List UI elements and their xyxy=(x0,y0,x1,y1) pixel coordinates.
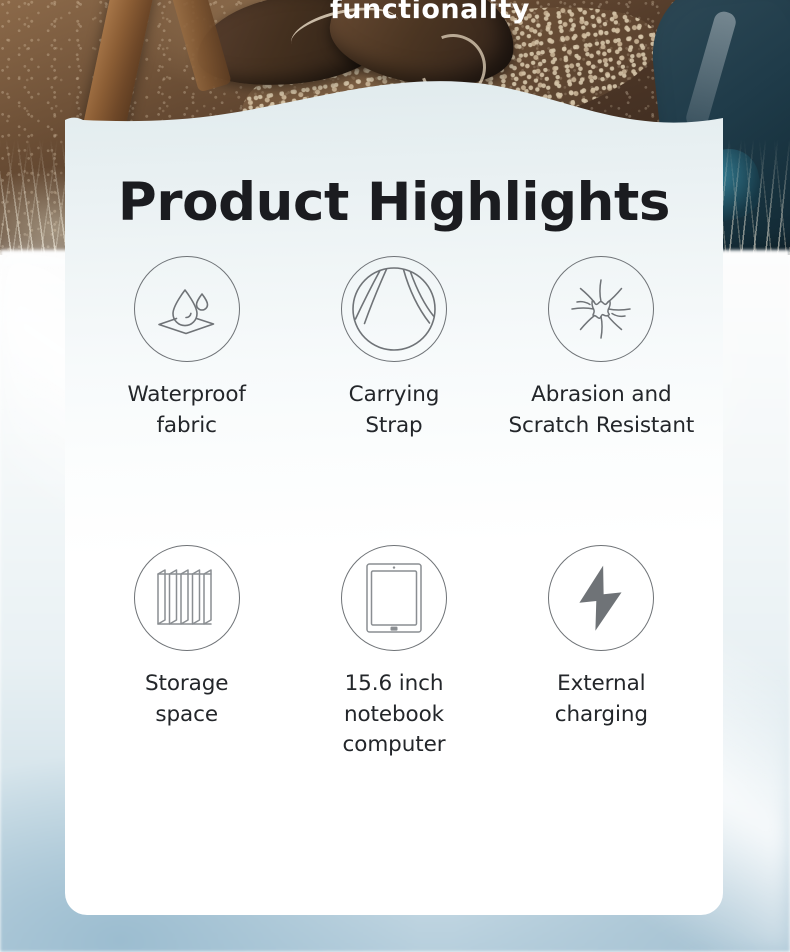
carrying-strap-icon xyxy=(341,256,447,362)
feature-label: Waterproof fabric xyxy=(127,380,245,441)
lightning-bolt-icon xyxy=(548,545,654,651)
water-drop-on-fabric-icon xyxy=(134,256,240,362)
feature-item-waterproof-fabric[interactable]: Waterproof fabric xyxy=(83,256,290,441)
scratch-crack-web-icon xyxy=(548,256,654,362)
feature-item-external-charging[interactable]: External charging xyxy=(498,545,705,761)
feature-label: Storage space xyxy=(145,669,228,730)
feature-item-abrasion-scratch-resistant[interactable]: Abrasion and Scratch Resistant xyxy=(498,256,705,441)
feature-label: 15.6 inch notebook computer xyxy=(290,669,497,761)
feature-label: External charging xyxy=(555,669,648,730)
feature-grid: Waterproof fabric Carrying Strap xyxy=(83,256,705,761)
arc-headline-text: functionality xyxy=(330,0,530,25)
layered-compartments-icon xyxy=(134,545,240,651)
feature-label: Carrying Strap xyxy=(349,380,440,441)
highlights-card-content: Product Highlights Waterproof fabric xyxy=(65,78,723,915)
feature-item-carrying-strap[interactable]: Carrying Strap xyxy=(290,256,497,441)
tablet-laptop-icon xyxy=(341,545,447,651)
product-highlights-banner: functionality Product Highlights Waterpr… xyxy=(0,0,790,952)
feature-item-notebook-computer[interactable]: 15.6 inch notebook computer xyxy=(290,545,497,761)
page-title: Product Highlights xyxy=(65,172,723,233)
feature-label: Abrasion and Scratch Resistant xyxy=(508,380,694,441)
feature-item-storage-space[interactable]: Storage space xyxy=(83,545,290,761)
